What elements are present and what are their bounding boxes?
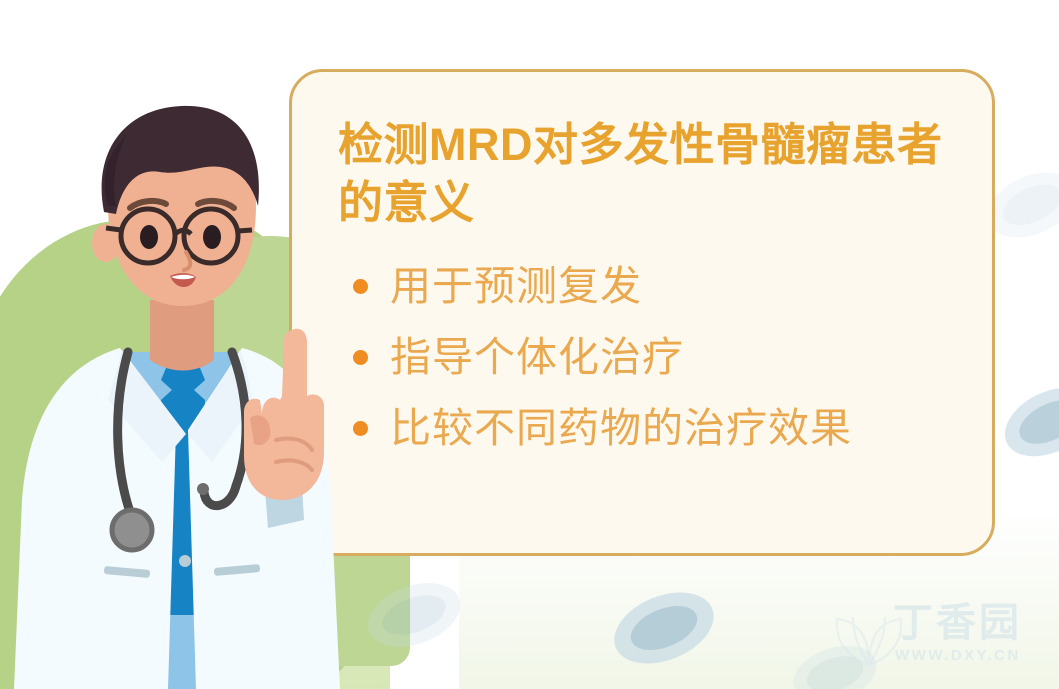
- list-item: 用于预测复发: [338, 259, 962, 313]
- stethoscope-chestpiece: [112, 510, 152, 550]
- bullet-list: 用于预测复发 指导个体化治疗 比较不同药物的治疗效果: [338, 259, 962, 455]
- watermark-brand: 丁香园: [893, 601, 1022, 645]
- stethoscope-earpiece: [197, 483, 209, 495]
- bullet-label: 指导个体化治疗: [390, 333, 684, 381]
- bullet-label: 用于预测复发: [390, 262, 642, 310]
- infographic-canvas: 检测MRD对多发性骨髓瘤患者的意义 用于预测复发 指导个体化治疗 比较不同药物的…: [0, 0, 1059, 689]
- neck: [150, 300, 214, 371]
- coat-button: [179, 555, 191, 567]
- doctor-illustration: [0, 0, 420, 689]
- blood-cell-icon: [994, 374, 1059, 470]
- glasses-temple-left: [106, 228, 121, 230]
- list-item: 指导个体化治疗: [338, 330, 962, 384]
- glasses-temple-right: [238, 230, 252, 231]
- eye-left: [140, 225, 158, 249]
- list-item: 比较不同药物的治疗效果: [338, 401, 962, 455]
- card-content: 检测MRD对多发性骨髓瘤患者的意义 用于预测复发 指导个体化治疗 比较不同药物的…: [338, 116, 962, 472]
- page-title: 检测MRD对多发性骨髓瘤患者的意义: [338, 116, 962, 231]
- bullet-label: 比较不同药物的治疗效果: [390, 404, 852, 452]
- eye-right: [203, 225, 221, 249]
- watermark-url: WWW.DXY.CN: [895, 647, 1021, 664]
- watermark: 丁香园 WWW.DXY.CN: [829, 599, 1045, 677]
